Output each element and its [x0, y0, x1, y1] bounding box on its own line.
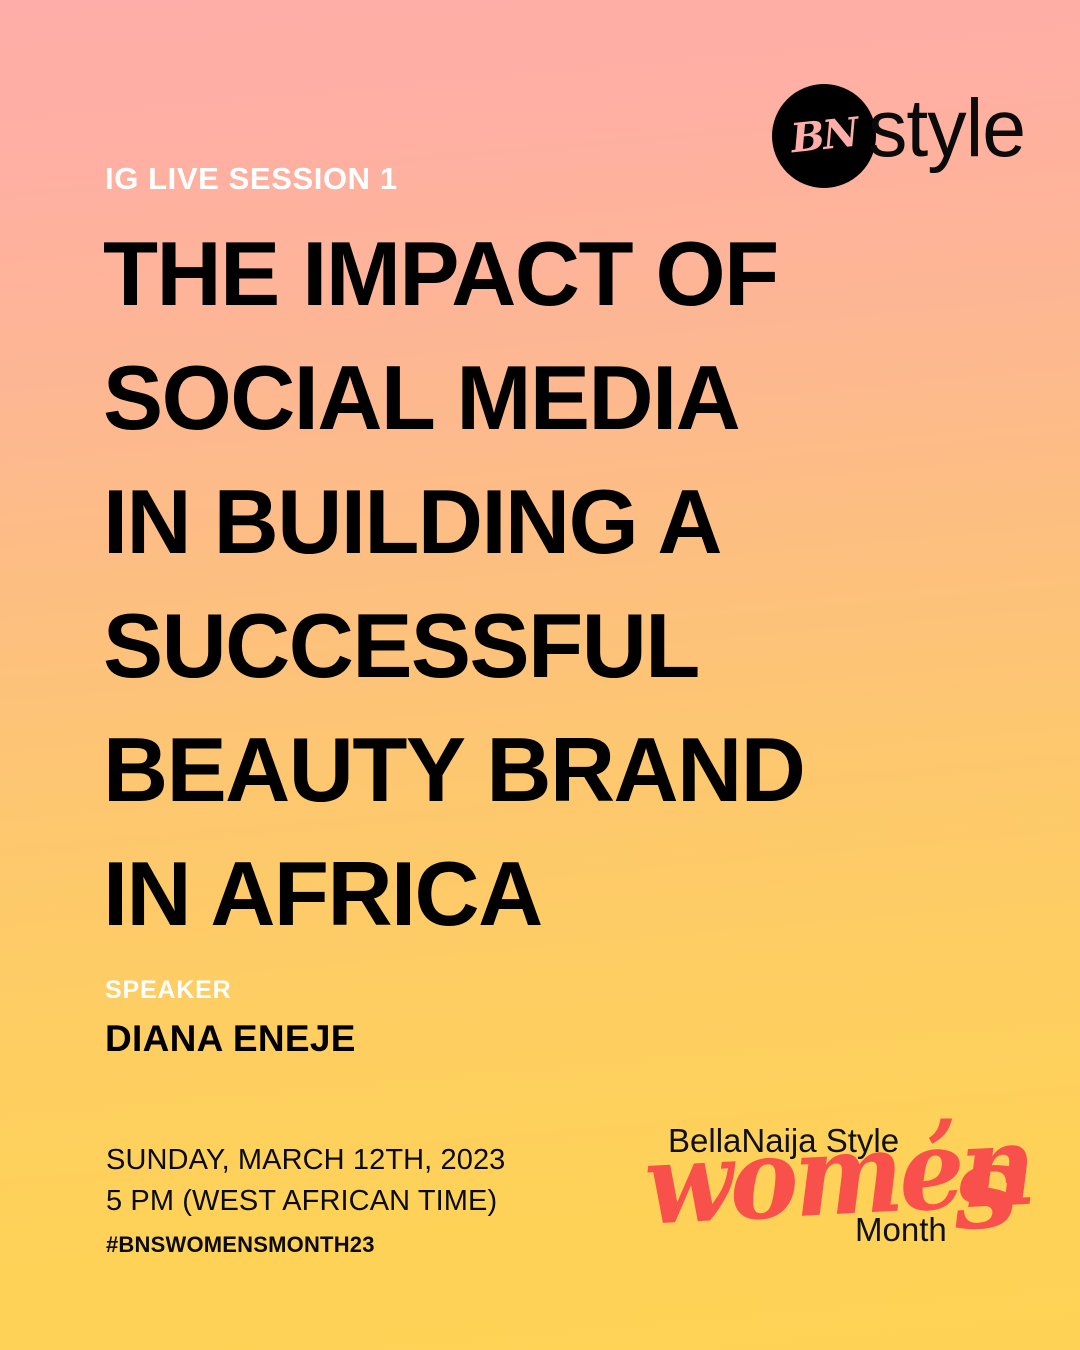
event-hashtag: #BNSWOMENSMONTH23 [106, 1234, 505, 1256]
logo-wordmark: style [868, 88, 1025, 170]
headline-line: IN AFRICA [103, 833, 954, 957]
headline-line: THE IMPACT OF [103, 213, 954, 337]
badge-script-s: s [949, 1128, 1022, 1247]
event-date: SUNDAY, MARCH 12TH, 2023 [106, 1140, 505, 1181]
event-details: SUNDAY, MARCH 12TH, 2023 5 PM (WEST AFRI… [106, 1140, 505, 1256]
speaker-block: SPEAKER DIANA ENEJE [105, 978, 356, 1057]
flyer-canvas: BN style IG LIVE SESSION 1 THE IMPACT OF… [0, 0, 1080, 1350]
logo-monogram: BN [767, 79, 881, 193]
bn-style-logo: BN style [772, 78, 1012, 190]
speaker-label: SPEAKER [105, 978, 356, 1003]
womens-month-badge: BellaNaija Style women ’ s Month [650, 1110, 1050, 1275]
headline-line: BEAUTY BRAND [103, 709, 954, 833]
headline: THE IMPACT OF SOCIAL MEDIA IN BUILDING A… [103, 213, 963, 957]
headline-line: SUCCESSFUL [103, 585, 954, 709]
speaker-name: DIANA ENEJE [105, 1020, 356, 1057]
session-eyebrow: IG LIVE SESSION 1 [105, 163, 398, 194]
headline-line: IN BUILDING A [103, 461, 954, 585]
event-time: 5 PM (WEST AFRICAN TIME) [106, 1181, 505, 1222]
badge-month-text: Month [855, 1213, 947, 1246]
headline-line: SOCIAL MEDIA [103, 337, 954, 461]
